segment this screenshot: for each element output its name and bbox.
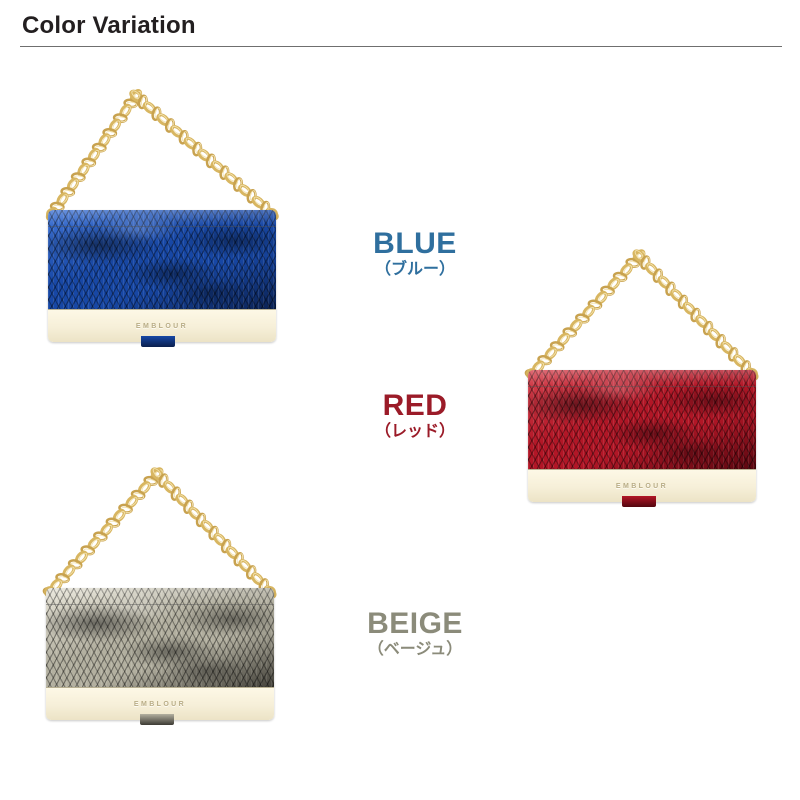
- color-label-beige: BEIGE （ベージュ）: [315, 608, 515, 661]
- wallet-body-beige: EMBLOUR: [46, 588, 274, 720]
- product-image-beige[interactable]: EMBLOUR: [26, 462, 288, 724]
- color-label-red: RED （レッド）: [315, 390, 515, 443]
- top-seam: [46, 588, 274, 605]
- page-title: Color Variation: [22, 12, 196, 40]
- color-name-ja-red: （レッド）: [315, 422, 515, 443]
- product-image-red[interactable]: EMBLOUR: [508, 250, 770, 512]
- product-image-blue[interactable]: EMBLOUR: [28, 92, 288, 352]
- top-seam: [48, 210, 276, 227]
- color-name-red: RED: [315, 390, 515, 421]
- color-label-blue: BLUE （ブルー）: [315, 228, 515, 281]
- page-header: Color Variation: [0, 0, 800, 52]
- color-variation-page: Color Variation EMBLOUR EMBLOUR: [0, 0, 800, 800]
- color-name-ja-beige: （ベージュ）: [315, 640, 515, 661]
- wallet-body-blue: EMBLOUR: [48, 210, 276, 342]
- clasp-tab-blue: [141, 336, 175, 347]
- brand-logo: EMBLOUR: [134, 701, 186, 708]
- header-divider: [20, 46, 782, 47]
- clasp-tab-beige: [140, 714, 174, 725]
- color-name-blue: BLUE: [315, 228, 515, 259]
- snakeskin-texture-blue: [48, 210, 276, 313]
- top-seam: [528, 370, 756, 387]
- wallet-body-red: EMBLOUR: [528, 370, 756, 502]
- color-name-beige: BEIGE: [315, 608, 515, 639]
- snakeskin-texture-beige: [46, 588, 274, 691]
- snakeskin-texture-red: [528, 370, 756, 473]
- clasp-tab-red: [622, 496, 656, 507]
- brand-logo: EMBLOUR: [136, 323, 188, 330]
- brand-logo: EMBLOUR: [616, 483, 668, 490]
- color-name-ja-blue: （ブルー）: [315, 260, 515, 281]
